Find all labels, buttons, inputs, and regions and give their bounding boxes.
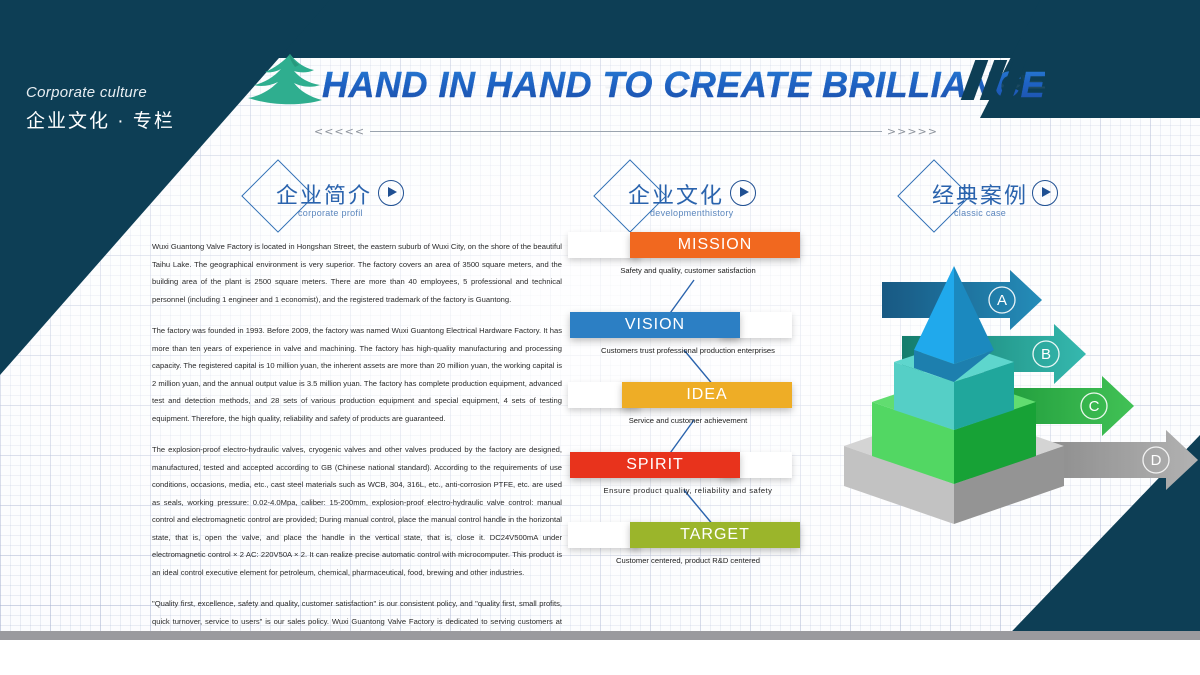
- paragraph: The explosion-proof electro-hydraulic va…: [152, 441, 562, 581]
- bar-color-block: IDEA: [622, 382, 792, 408]
- culture-bar-vision[interactable]: VISION: [568, 312, 808, 338]
- play-icon[interactable]: [378, 180, 404, 206]
- bottom-gray-bar: [0, 631, 1200, 640]
- culture-label: VISION: [625, 316, 685, 334]
- culture-caption-mission: Safety and quality, customer satisfactio…: [568, 266, 808, 275]
- bar-color-block: TARGET: [630, 522, 800, 548]
- culture-bar-target[interactable]: TARGET: [568, 522, 808, 548]
- bar-color-block: SPIRIT: [570, 452, 740, 478]
- culture-bar-mission[interactable]: MISSION: [568, 232, 808, 258]
- section-title-cn: 企业简介: [276, 178, 372, 210]
- culture-caption-vision: Customers trust professional production …: [568, 346, 808, 355]
- slash-decoration: [968, 60, 1019, 100]
- pyramid-arrow-label-A: A: [997, 292, 1007, 309]
- rule-line: [370, 131, 882, 132]
- rule-left-chevrons: <<<<<: [314, 126, 365, 138]
- culture-label: IDEA: [686, 386, 727, 404]
- culture-caption-target: Customer centered, product R&D centered: [568, 556, 808, 565]
- dove-icon: [240, 52, 330, 110]
- rule-right-chevrons: >>>>>: [887, 126, 938, 138]
- culture-caption-spirit: Ensure product quality, reliability and …: [568, 486, 808, 495]
- section-title-en: classic case: [954, 208, 1006, 218]
- culture-caption-idea: Service and customer achievement: [568, 416, 808, 425]
- pyramid-arrow-label-C: C: [1089, 398, 1100, 415]
- culture-label: MISSION: [678, 236, 753, 254]
- culture-banner-group: MISSION Safety and quality, customer sat…: [568, 232, 808, 582]
- pyramid-diagram: D C B A: [826, 252, 1200, 524]
- section-title-en: corporate profil: [298, 208, 363, 218]
- side-caption-en: Corporate culture: [26, 84, 175, 101]
- play-icon[interactable]: [1032, 180, 1058, 206]
- poster-canvas: Corporate culture 企业文化 · 专栏 HAND IN HAND…: [0, 0, 1200, 675]
- bar-color-block: VISION: [570, 312, 740, 338]
- play-icon[interactable]: [730, 180, 756, 206]
- banner-title: HAND IN HAND TO CREATE BRILLIANCE: [322, 64, 1045, 106]
- profile-body-copy: Wuxi Guantong Valve Factory is located i…: [152, 238, 562, 675]
- side-caption-cn: 企业文化 · 专栏: [26, 106, 175, 133]
- paragraph: Wuxi Guantong Valve Factory is located i…: [152, 238, 562, 308]
- bar-color-block: MISSION: [630, 232, 800, 258]
- section-title-cn: 企业文化: [628, 178, 724, 210]
- culture-bar-idea[interactable]: IDEA: [568, 382, 808, 408]
- culture-label: TARGET: [680, 526, 750, 544]
- side-caption: Corporate culture 企业文化 · 专栏: [26, 84, 175, 133]
- pyramid-svg: D C B A: [826, 252, 1200, 524]
- culture-label: SPIRIT: [626, 456, 684, 474]
- pyramid-arrow-label-D: D: [1151, 452, 1162, 469]
- pyramid-arrow-label-B: B: [1041, 346, 1051, 363]
- section-title-cn: 经典案例: [932, 178, 1028, 210]
- paragraph: The factory was founded in 1993. Before …: [152, 322, 562, 427]
- bottom-white-strip: [0, 640, 1200, 675]
- section-title-en: developmenthistory: [650, 208, 733, 218]
- header-divider-rule: <<<<< >>>>>: [314, 126, 938, 138]
- culture-bar-spirit[interactable]: SPIRIT: [568, 452, 808, 478]
